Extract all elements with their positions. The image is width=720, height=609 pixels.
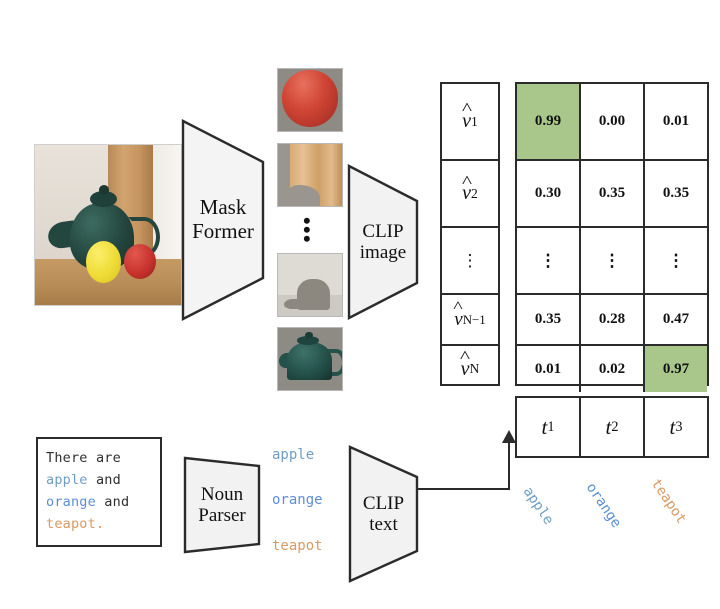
matrix-row: 0.35 0.28 0.47: [517, 295, 707, 346]
input-image: [34, 144, 182, 306]
column-label-orange: orange: [583, 480, 625, 531]
crop-teapot-knob: [305, 332, 313, 338]
crop-teapot-body: [287, 342, 332, 380]
t-cell-3: t3: [645, 398, 707, 456]
matrix-row: 0.01 0.02 0.97: [517, 346, 707, 392]
matrix-cell: 0.35: [517, 295, 581, 344]
noun-token-apple: apple: [272, 447, 314, 463]
matrix-cell: 0.01: [645, 84, 707, 159]
sentence-line-2: apple and: [46, 470, 160, 492]
connector-horizontal: [418, 488, 510, 490]
matrix-cell: 0.01: [517, 346, 581, 392]
crop-apple-fruit: [282, 70, 338, 127]
matrix-cell: 0.28: [581, 295, 645, 344]
matrix-cell: 0.35: [581, 161, 645, 226]
vhat-row-ellipsis: ⋮: [442, 228, 498, 295]
similarity-matrix: 0.99 0.00 0.01 0.30 0.35 0.35 ⋮ ⋮ ⋮ 0.35…: [515, 82, 709, 386]
vhat-row-n: vN: [442, 346, 498, 392]
crop-door: [277, 143, 343, 207]
photo-teapot-knob: [99, 185, 109, 195]
matrix-cell: 0.47: [645, 295, 707, 344]
vhat-row-2: v2: [442, 161, 498, 228]
matrix-cell: 0.35: [645, 161, 707, 226]
matrix-row-ellipsis: ⋮ ⋮ ⋮: [517, 228, 707, 295]
text-embedding-row: t1 t2 t3: [515, 396, 709, 458]
matrix-row: 0.30 0.35 0.35: [517, 161, 707, 228]
matrix-row: 0.99 0.00 0.01: [517, 84, 707, 161]
column-label-teapot: teapot: [648, 476, 690, 527]
visual-embedding-column: v1 v2 ⋮ vN−1 vN: [440, 82, 500, 386]
matrix-cell: ⋮: [517, 228, 581, 293]
photo-lemon: [86, 241, 121, 283]
vhat-row-1: v1: [442, 84, 498, 161]
crop-shadow-spout: [284, 299, 301, 309]
noun-parser-outline: [182, 455, 262, 555]
sentence-line-4: teapot.: [46, 514, 160, 536]
t-cell-2: t2: [581, 398, 645, 456]
noun-orange-inline: orange: [46, 494, 96, 510]
crop-shadow-silhouette: [297, 279, 330, 310]
crop-teapot: [277, 327, 343, 391]
matrix-cell: 0.99: [517, 84, 581, 159]
matrix-cell: 0.97: [645, 346, 707, 392]
clip-image-outline: [347, 163, 419, 321]
noun-token-teapot: teapot: [272, 538, 323, 554]
vhat-row-n-minus-1: vN−1: [442, 295, 498, 346]
mask-former-outline: [181, 117, 265, 323]
sentence-line-1: There are: [46, 448, 160, 470]
noun-teapot-inline: teapot.: [46, 516, 104, 532]
arrow-head-icon: [502, 430, 516, 443]
noun-apple-inline: apple: [46, 472, 88, 488]
matrix-cell: ⋮: [645, 228, 707, 293]
matrix-cell: 0.00: [581, 84, 645, 159]
matrix-cell: ⋮: [581, 228, 645, 293]
crop-apple: [277, 68, 343, 132]
crops-ellipsis-icon: •••: [303, 216, 311, 243]
crop-shadow: [277, 253, 343, 317]
clip-text-outline: [347, 444, 420, 584]
sentence-box: There are apple and orange and teapot.: [36, 437, 162, 547]
column-label-apple: apple: [520, 484, 557, 528]
matrix-cell: 0.02: [581, 346, 645, 392]
matrix-cell: 0.30: [517, 161, 581, 226]
noun-token-orange: orange: [272, 492, 323, 508]
connector-vertical: [508, 442, 510, 490]
clip-text-to-matrix-arrow: [418, 430, 528, 490]
sentence-line-3: orange and: [46, 492, 160, 514]
